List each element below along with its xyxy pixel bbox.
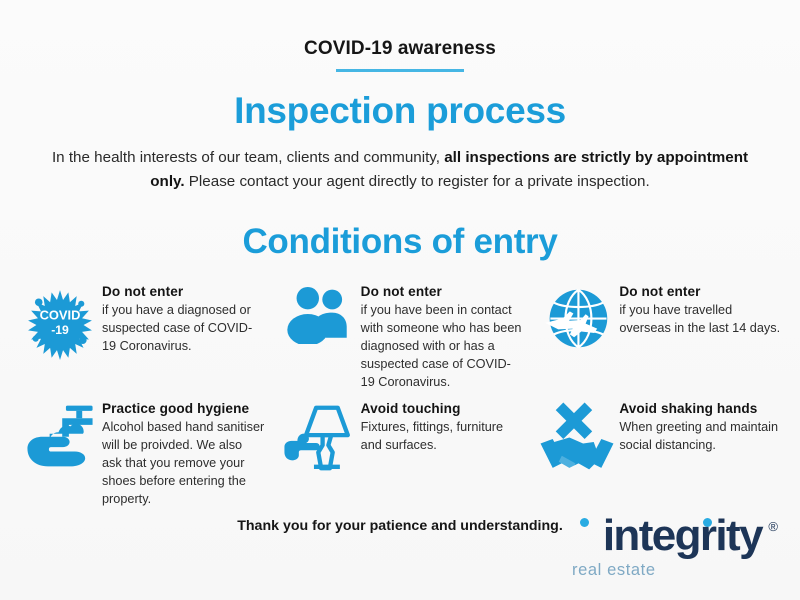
page-title: Inspection process (0, 90, 800, 132)
condition-heading: Avoid touching (361, 401, 524, 416)
condition-item: COVID -19 Do not enter if you have a dia… (14, 282, 269, 391)
condition-body: Alcohol based hand sanitiser will be pro… (102, 418, 265, 508)
conditions-grid-row1: COVID -19 Do not enter if you have a dia… (0, 282, 800, 391)
condition-body: When greeting and maintain social distan… (619, 418, 782, 454)
condition-item: Practice good hygiene Alcohol based hand… (14, 399, 269, 508)
cross-mark-icon (556, 403, 592, 439)
condition-heading: Practice good hygiene (102, 401, 265, 416)
handshake-no-icon (535, 399, 619, 481)
condition-heading: Avoid shaking hands (619, 401, 782, 416)
infographic-page: COVID-19 awareness Inspection process In… (0, 0, 800, 600)
condition-text: Avoid shaking hands When greeting and ma… (619, 399, 782, 454)
lamp-pointing-hand-icon (277, 399, 361, 481)
eyebrow-block: COVID-19 awareness (0, 0, 800, 72)
title-underline-rule (336, 69, 464, 72)
conditions-grid-row2: Practice good hygiene Alcohol based hand… (0, 399, 800, 508)
intro-text-part2: Please contact your agent directly to re… (185, 173, 650, 190)
covid-virus-icon: COVID -19 (18, 282, 102, 364)
condition-heading: Do not enter (619, 284, 782, 299)
section-title-conditions: Conditions of entry (0, 222, 800, 262)
registered-trademark-icon: ® (768, 520, 778, 533)
condition-item: Do not enter if you have travelled overs… (531, 282, 786, 391)
condition-heading: Do not enter (102, 284, 265, 299)
logo-tagline: real estate (572, 561, 656, 580)
logo-word-text: integrity (603, 511, 762, 560)
two-people-icon (277, 282, 361, 364)
condition-body: Fixtures, fittings, furniture and surfac… (361, 418, 524, 454)
intro-text-part1: In the health interests of our team, cli… (52, 149, 444, 166)
condition-text: Avoid touching Fixtures, fittings, furni… (361, 399, 524, 454)
condition-body: if you have travelled overseas in the la… (619, 301, 782, 337)
integrity-logo: integrity® real estate (550, 514, 778, 578)
condition-item: Do not enter if you have been in contact… (273, 282, 528, 391)
condition-text: Do not enter if you have travelled overs… (619, 282, 782, 337)
logo-wordmark: integrity® (550, 514, 778, 558)
condition-text: Practice good hygiene Alcohol based hand… (102, 399, 265, 508)
condition-heading: Do not enter (361, 284, 524, 299)
condition-body: if you have a diagnosed or suspected cas… (102, 301, 265, 355)
condition-body: if you have been in contact with someone… (361, 301, 524, 391)
covid-icon-label-bottom: -19 (51, 323, 69, 337)
handwashing-icon (18, 399, 102, 481)
intro-paragraph: In the health interests of our team, cli… (50, 146, 750, 194)
globe-airplane-icon (535, 282, 619, 364)
condition-text: Do not enter if you have a diagnosed or … (102, 282, 265, 355)
condition-item: Avoid shaking hands When greeting and ma… (531, 399, 786, 508)
covid-icon-label-top: COVID (40, 308, 81, 323)
condition-text: Do not enter if you have been in contact… (361, 282, 524, 391)
condition-item: Avoid touching Fixtures, fittings, furni… (273, 399, 528, 508)
eyebrow-title: COVID-19 awareness (304, 38, 496, 60)
